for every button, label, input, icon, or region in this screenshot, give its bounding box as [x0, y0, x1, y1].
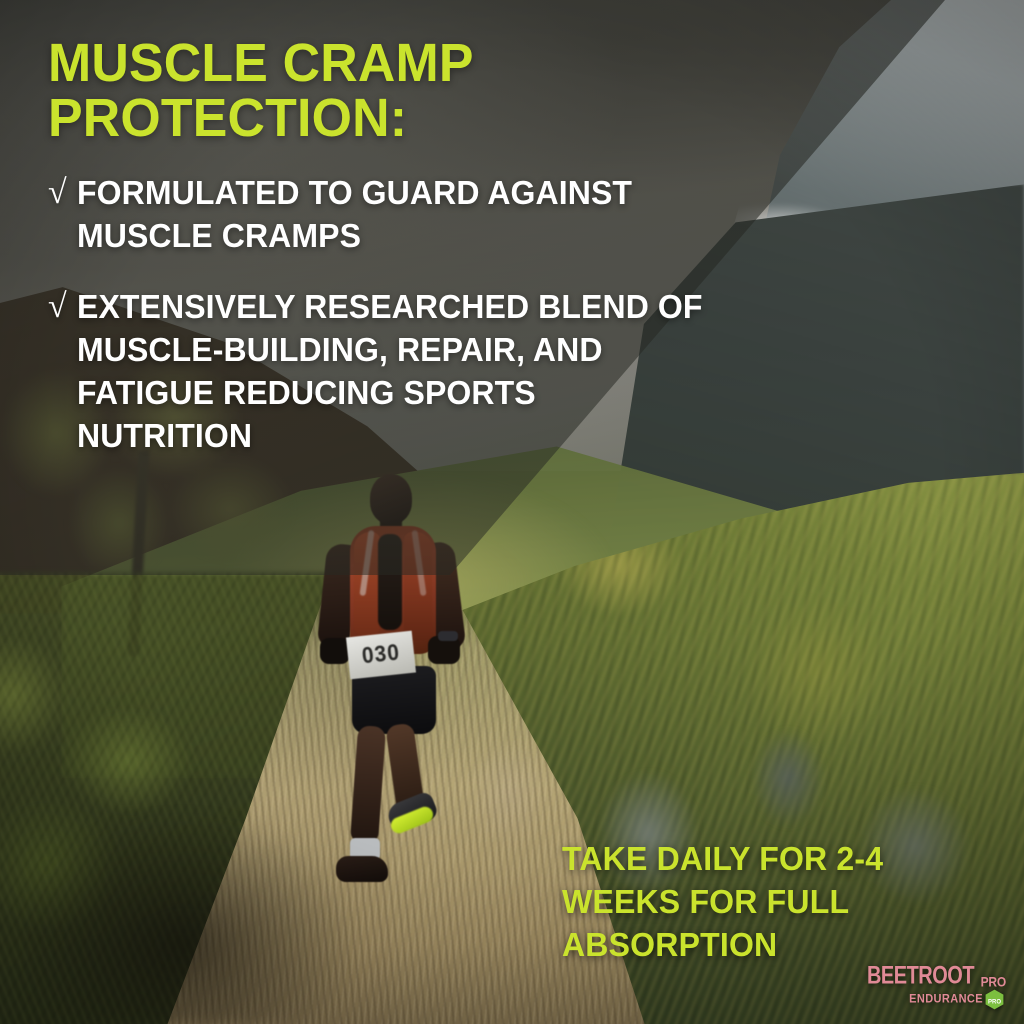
benefit-list-item: √ FORMULATED TO GUARD AGAINST MUSCLE CRA…: [48, 172, 788, 258]
brand-logo[interactable]: BEETROOT PRO ENDURANCE PRO: [867, 967, 1006, 1010]
logo-wordmark: BEETROOT: [867, 963, 974, 988]
hexagon-badge-icon: PRO: [985, 989, 1004, 1010]
headline: MUSCLE CRAMP PROTECTION:: [48, 36, 758, 146]
advertisement-canvas: 030 MUSCLE CRAMP PROTECTION: √ FORMULATE…: [0, 0, 1024, 1024]
benefit-text: EXTENSIVELY RESEARCHED BLEND OF MUSCLE-B…: [77, 286, 717, 458]
race-bib: 030: [346, 631, 416, 680]
benefit-list: √ FORMULATED TO GUARD AGAINST MUSCLE CRA…: [48, 172, 788, 457]
logo-primary-row: BEETROOT PRO: [867, 967, 1006, 988]
svg-text:PRO: PRO: [988, 999, 1001, 1005]
runner-watch: [438, 631, 458, 641]
runner-front-shoe: [336, 856, 388, 882]
runner-left-leg: [350, 725, 386, 845]
logo-secondary-row: ENDURANCE PRO: [867, 989, 1004, 1010]
race-bib-number: 030: [361, 640, 402, 670]
checkmark-icon: √: [48, 176, 67, 210]
hydration-vest-center: [378, 534, 402, 630]
benefit-list-item: √ EXTENSIVELY RESEARCHED BLEND OF MUSCLE…: [48, 286, 788, 458]
checkmark-icon: √: [48, 290, 67, 324]
usage-instruction: TAKE DAILY FOR 2-4 WEEKS FOR FULL ABSORP…: [562, 838, 989, 967]
logo-tagline: ENDURANCE: [909, 993, 983, 1005]
benefit-text: FORMULATED TO GUARD AGAINST MUSCLE CRAMP…: [77, 172, 756, 258]
copy-block: MUSCLE CRAMP PROTECTION: √ FORMULATED TO…: [48, 36, 788, 486]
trail-runner-figure: 030: [292, 468, 492, 928]
logo-pro-suffix: PRO: [981, 975, 1006, 989]
